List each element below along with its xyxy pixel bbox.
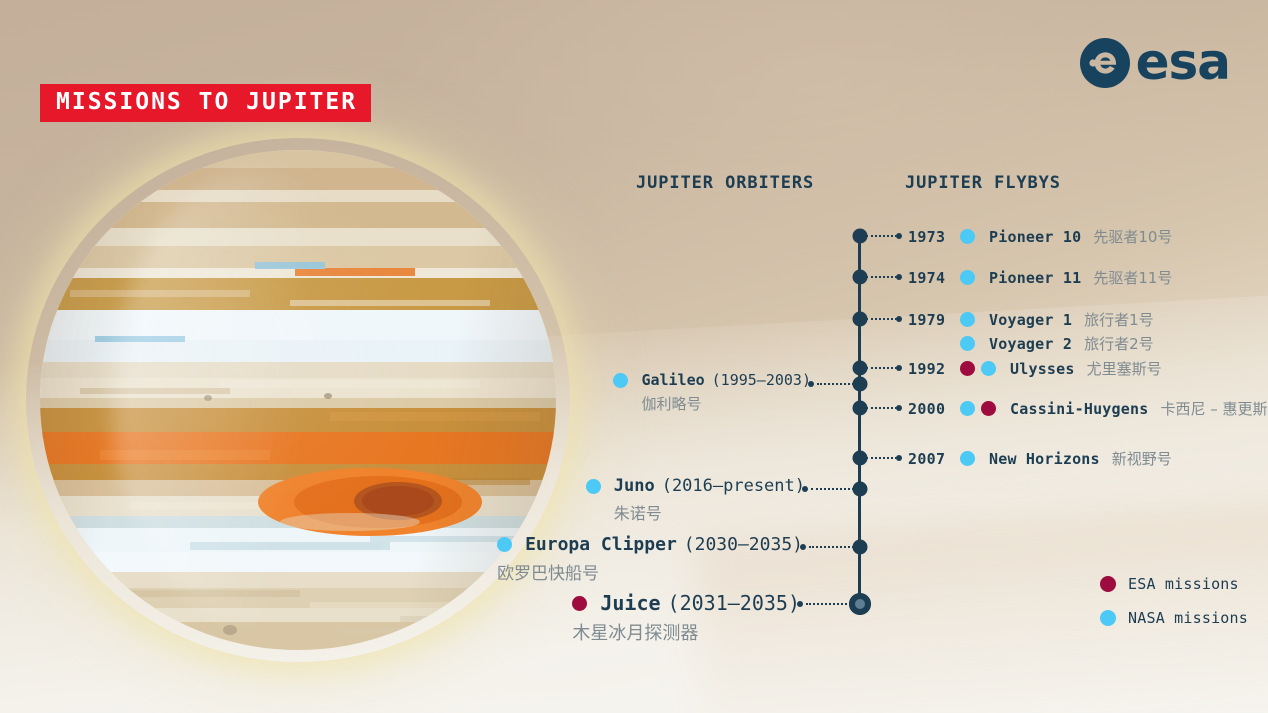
- mission-name: Juice: [600, 591, 660, 615]
- mission-name-chinese: 卡西尼 – 惠更斯号: [1160, 398, 1268, 419]
- leader-line: [866, 235, 898, 237]
- orbiter-row: Europa Clipper(2030–2035)欧罗巴快船号: [497, 534, 803, 584]
- agency-dots: [960, 451, 975, 466]
- mission-name: New Horizons: [989, 450, 1100, 468]
- flyby-year: 1973: [908, 228, 946, 246]
- leader-line: [866, 367, 898, 369]
- leader-line: [866, 457, 898, 459]
- nasa-dot-icon: [1100, 610, 1116, 626]
- mission-name-chinese: 先驱者11号: [1093, 267, 1172, 288]
- agency-dots: [960, 361, 996, 376]
- mission-name-chinese: 伽利略号: [613, 393, 811, 414]
- mission-name: Juno: [614, 476, 655, 496]
- orbiter-row: Galileo(1995–2003)伽利略号: [613, 371, 811, 414]
- esa-dot-icon: [1100, 576, 1116, 592]
- mission-name-chinese: 尤里塞斯号: [1087, 358, 1162, 379]
- legend-label: ESA missions: [1128, 575, 1239, 593]
- nasa-dot-icon: [960, 451, 975, 466]
- flyby-row: 1992Ulysses尤里塞斯号: [908, 358, 1162, 379]
- leader-dot: [896, 274, 902, 280]
- agency-dots: [960, 270, 975, 285]
- nasa-dot-icon: [960, 401, 975, 416]
- mission-name: Galileo: [641, 371, 704, 389]
- nasa-dot-icon: [586, 479, 601, 494]
- leader-line: [806, 603, 854, 605]
- flyby-row: 1974Pioneer 11先驱者11号: [908, 267, 1172, 288]
- legend: ESA missionsNASA missions: [1100, 575, 1248, 643]
- flyby-row: 2000Cassini-Huygens卡西尼 – 惠更斯号: [908, 398, 1268, 419]
- jupiter-bands: [40, 150, 556, 650]
- flyby-year: 2000: [908, 400, 946, 418]
- flyby-row: 1973Pioneer 10先驱者10号: [908, 226, 1172, 247]
- mission-name: Pioneer 11: [989, 269, 1081, 287]
- orbiter-row-main: Europa Clipper(2030–2035): [497, 534, 803, 555]
- nasa-dot-icon: [981, 361, 996, 376]
- esa-dot-icon: [960, 361, 975, 376]
- esa-dot-icon: [572, 596, 587, 611]
- leader-dot: [896, 405, 902, 411]
- mission-name-chinese: 朱诺号: [586, 500, 805, 524]
- leader-dot: [896, 365, 902, 371]
- leader-line: [866, 407, 898, 409]
- mission-dates: (1995–2003): [712, 371, 811, 389]
- flyby-year: 1992: [908, 360, 946, 378]
- nasa-dot-icon: [497, 537, 512, 552]
- flyby-year: 1974: [908, 269, 946, 287]
- mission-dates: (2031–2035): [668, 591, 800, 615]
- legend-label: NASA missions: [1128, 609, 1248, 627]
- mission-name: Cassini-Huygens: [1010, 400, 1148, 418]
- legend-item: ESA missions: [1100, 575, 1248, 593]
- timeline-node: [852, 482, 867, 497]
- esa-logo: esa: [1078, 36, 1230, 90]
- mission-name-chinese: 木星冰月探测器: [572, 619, 800, 645]
- flyby-year: 1979: [908, 311, 946, 329]
- orbiter-row: Juice(2031–2035)木星冰月探测器: [572, 591, 800, 645]
- mission-name: Europa Clipper: [525, 534, 677, 555]
- leader-line: [817, 383, 854, 385]
- esa-dot-icon: [981, 401, 996, 416]
- nasa-dot-icon: [960, 270, 975, 285]
- mission-name: Ulysses: [1010, 360, 1075, 378]
- leader-dot: [896, 455, 902, 461]
- mission-dates: (2030–2035): [684, 534, 803, 555]
- leader-line: [866, 318, 898, 320]
- esa-emblem-icon: [1078, 36, 1132, 90]
- legend-item: NASA missions: [1100, 609, 1248, 627]
- mission-name: Voyager 2: [989, 335, 1072, 353]
- header-jupiter-orbiters: JUPITER ORBITERS: [636, 173, 814, 193]
- orbiter-row-main: Galileo(1995–2003): [613, 371, 811, 389]
- infographic-canvas: MISSIONS TO JUPITER esa JUPITER ORBITERS…: [0, 0, 1268, 713]
- orbiter-row-main: Juice(2031–2035): [572, 591, 800, 615]
- nasa-dot-icon: [960, 336, 975, 351]
- mission-name-chinese: 旅行者2号: [1084, 333, 1154, 354]
- flyby-row: 1979Voyager 1旅行者1号: [908, 309, 1154, 330]
- timeline-node: [852, 540, 867, 555]
- agency-dots: [960, 229, 975, 244]
- orbiter-row: Juno(2016–present)朱诺号: [586, 476, 805, 524]
- leader-dot: [896, 233, 902, 239]
- agency-dots: [960, 312, 975, 327]
- mission-name-chinese: 欧罗巴快船号: [497, 559, 803, 584]
- nasa-dot-icon: [960, 312, 975, 327]
- jupiter-illustration: [18, 130, 578, 670]
- leader-dot: [896, 316, 902, 322]
- nasa-dot-icon: [613, 373, 628, 388]
- flyby-year: 2007: [908, 450, 946, 468]
- nasa-dot-icon: [960, 229, 975, 244]
- leader-line: [811, 488, 854, 490]
- mission-name: Pioneer 10: [989, 228, 1081, 246]
- jupiter-disc: [40, 150, 556, 650]
- orbiter-row-main: Juno(2016–present): [586, 476, 805, 496]
- agency-dots: [960, 401, 996, 416]
- flyby-row: 2007New Horizons新视野号: [908, 448, 1172, 469]
- mission-name-chinese: 旅行者1号: [1084, 309, 1154, 330]
- mission-name-chinese: 新视野号: [1112, 448, 1172, 469]
- mission-name: Voyager 1: [989, 311, 1072, 329]
- flyby-row: Voyager 2旅行者2号: [908, 333, 1154, 354]
- page-title: MISSIONS TO JUPITER: [40, 84, 371, 122]
- header-jupiter-flybys: JUPITER FLYBYS: [905, 173, 1061, 193]
- esa-wordmark: esa: [1136, 37, 1230, 87]
- mission-dates: (2016–present): [662, 476, 805, 496]
- leader-line: [809, 546, 854, 548]
- timeline-node: [852, 377, 867, 392]
- mission-name-chinese: 先驱者10号: [1093, 226, 1172, 247]
- agency-dots: [960, 336, 975, 351]
- leader-line: [866, 276, 898, 278]
